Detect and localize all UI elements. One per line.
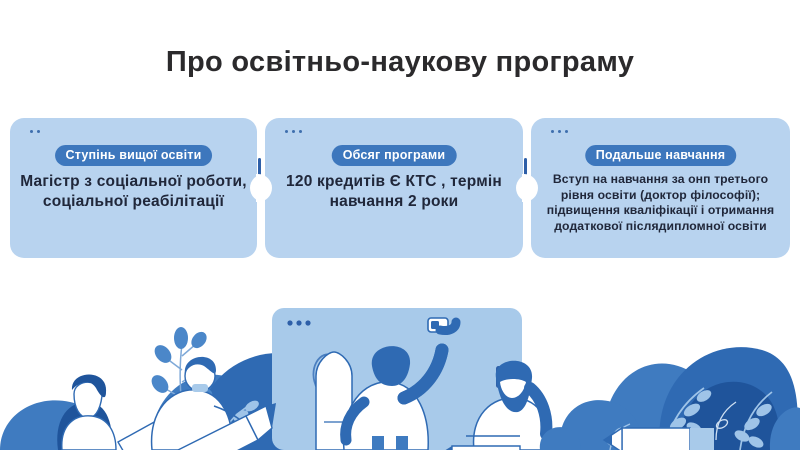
info-card-strip: Ступінь вищої освіти Магістр з соціально…	[10, 118, 790, 258]
card-dots-decoration	[551, 130, 568, 133]
board-dots	[287, 320, 310, 325]
card-divider-line	[258, 158, 261, 196]
card-badge-label: Подальше навчання	[585, 145, 737, 166]
card-body-text: Вступ на навчання за онп третього рівня …	[537, 172, 784, 234]
card-body-text: 120 кредитів Є КТС , термін навчання 2 р…	[271, 172, 517, 213]
info-card-program-volume: Обсяг програми 120 кредитів Є КТС , терм…	[265, 118, 523, 258]
illustration	[0, 270, 800, 450]
card-dots-decoration	[30, 130, 40, 133]
card-divider-line	[524, 158, 527, 196]
person-left	[57, 375, 116, 450]
card-badge-label: Обсяг програми	[332, 145, 457, 166]
card-dots-decoration	[285, 130, 302, 133]
card-badge-label: Ступінь вищої освіти	[55, 145, 213, 166]
page-title: Про освітньо-наукову програму	[0, 46, 800, 79]
card-body-text: Магістр з соціальної роботи, соціальної …	[16, 172, 251, 213]
info-card-degree-level: Ступінь вищої освіти Магістр з соціально…	[10, 118, 257, 258]
info-card-further-study: Подальше навчання Вступ на навчання за о…	[531, 118, 790, 258]
